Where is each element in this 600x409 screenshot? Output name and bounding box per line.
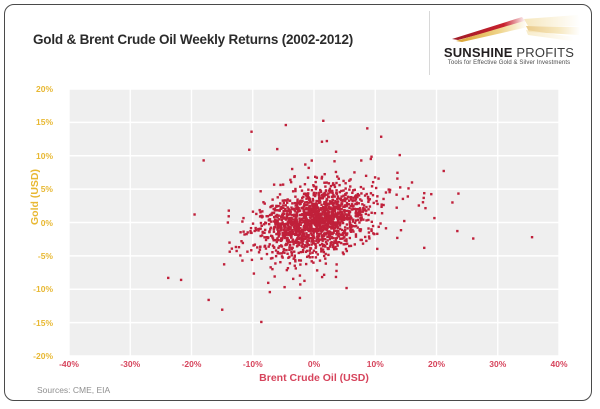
y-tick-label: 15% (7, 117, 53, 127)
y-tick-label: -10% (7, 284, 53, 294)
x-tick-label: -40% (39, 359, 99, 369)
x-tick-label: -20% (162, 359, 222, 369)
scatter-chart: Gold (USD) Brent Crude Oil (USD) 20%15%1… (5, 5, 592, 401)
plot-area (69, 89, 559, 356)
sources-note: Sources: CME, EIA (37, 385, 110, 395)
y-tick-label: 5% (7, 184, 53, 194)
chart-card: Gold & Brent Crude Oil Weekly Returns (2… (4, 4, 592, 401)
x-tick-label: -10% (223, 359, 283, 369)
x-tick-label: 10% (345, 359, 405, 369)
x-tick-label: 0% (284, 359, 344, 369)
scatter-canvas (69, 89, 559, 356)
x-tick-label: 30% (468, 359, 528, 369)
x-axis-title: Brent Crude Oil (USD) (69, 372, 559, 384)
data-points (167, 120, 533, 324)
y-tick-label: -5% (7, 251, 53, 261)
x-tick-label: 40% (529, 359, 589, 369)
y-tick-label: 10% (7, 151, 53, 161)
x-tick-label: 20% (407, 359, 467, 369)
y-tick-label: 20% (7, 84, 53, 94)
y-tick-label: 0% (7, 218, 53, 228)
y-tick-label: -15% (7, 318, 53, 328)
x-tick-label: -30% (100, 359, 160, 369)
